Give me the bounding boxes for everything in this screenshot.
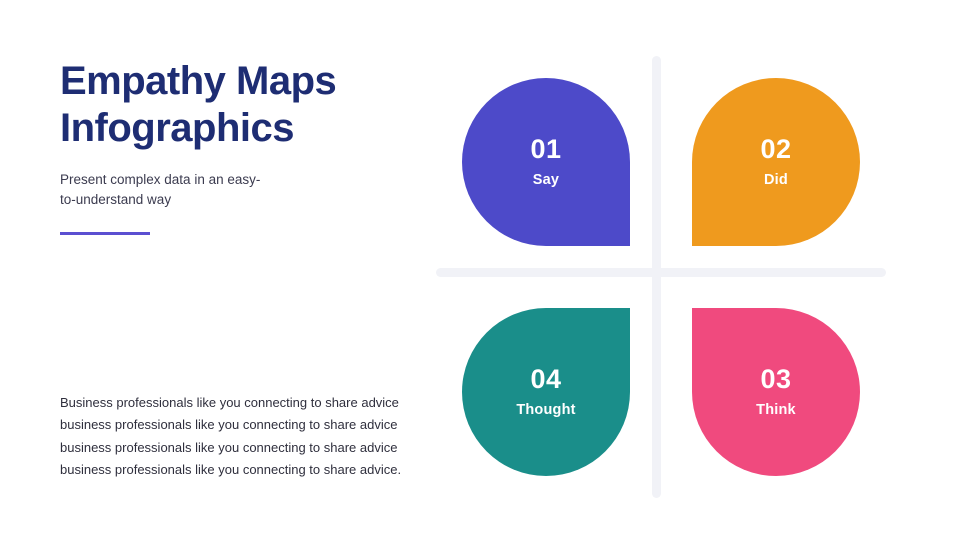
petal-thought[interactable]: 04 Thought [462, 308, 630, 476]
petal-did[interactable]: 02 Did [692, 78, 860, 246]
petal-say[interactable]: 01 Say [462, 78, 630, 246]
empathy-map-diagram: 01 Say 02 Did 03 Think 04 Thought [436, 56, 886, 498]
page-subtitle: Present complex data in an easy- to-unde… [60, 170, 410, 209]
petal-thought-label: Thought [516, 402, 575, 418]
horizontal-divider [436, 268, 886, 277]
petal-think[interactable]: 03 Think [692, 308, 860, 476]
vertical-divider [652, 56, 661, 498]
petal-think-number: 03 [760, 366, 791, 393]
body-paragraph: Business professionals like you connecti… [60, 392, 405, 481]
left-text-column: Empathy Maps Infographics Present comple… [60, 58, 410, 235]
petal-say-label: Say [533, 172, 559, 188]
petal-did-label: Did [764, 172, 788, 188]
slide-canvas: Empathy Maps Infographics Present comple… [0, 0, 980, 551]
accent-divider [60, 232, 150, 235]
petal-think-label: Think [756, 402, 796, 418]
petal-thought-number: 04 [530, 366, 561, 393]
petal-did-number: 02 [760, 136, 791, 163]
petal-say-number: 01 [530, 136, 561, 163]
page-title: Empathy Maps Infographics [60, 58, 410, 152]
